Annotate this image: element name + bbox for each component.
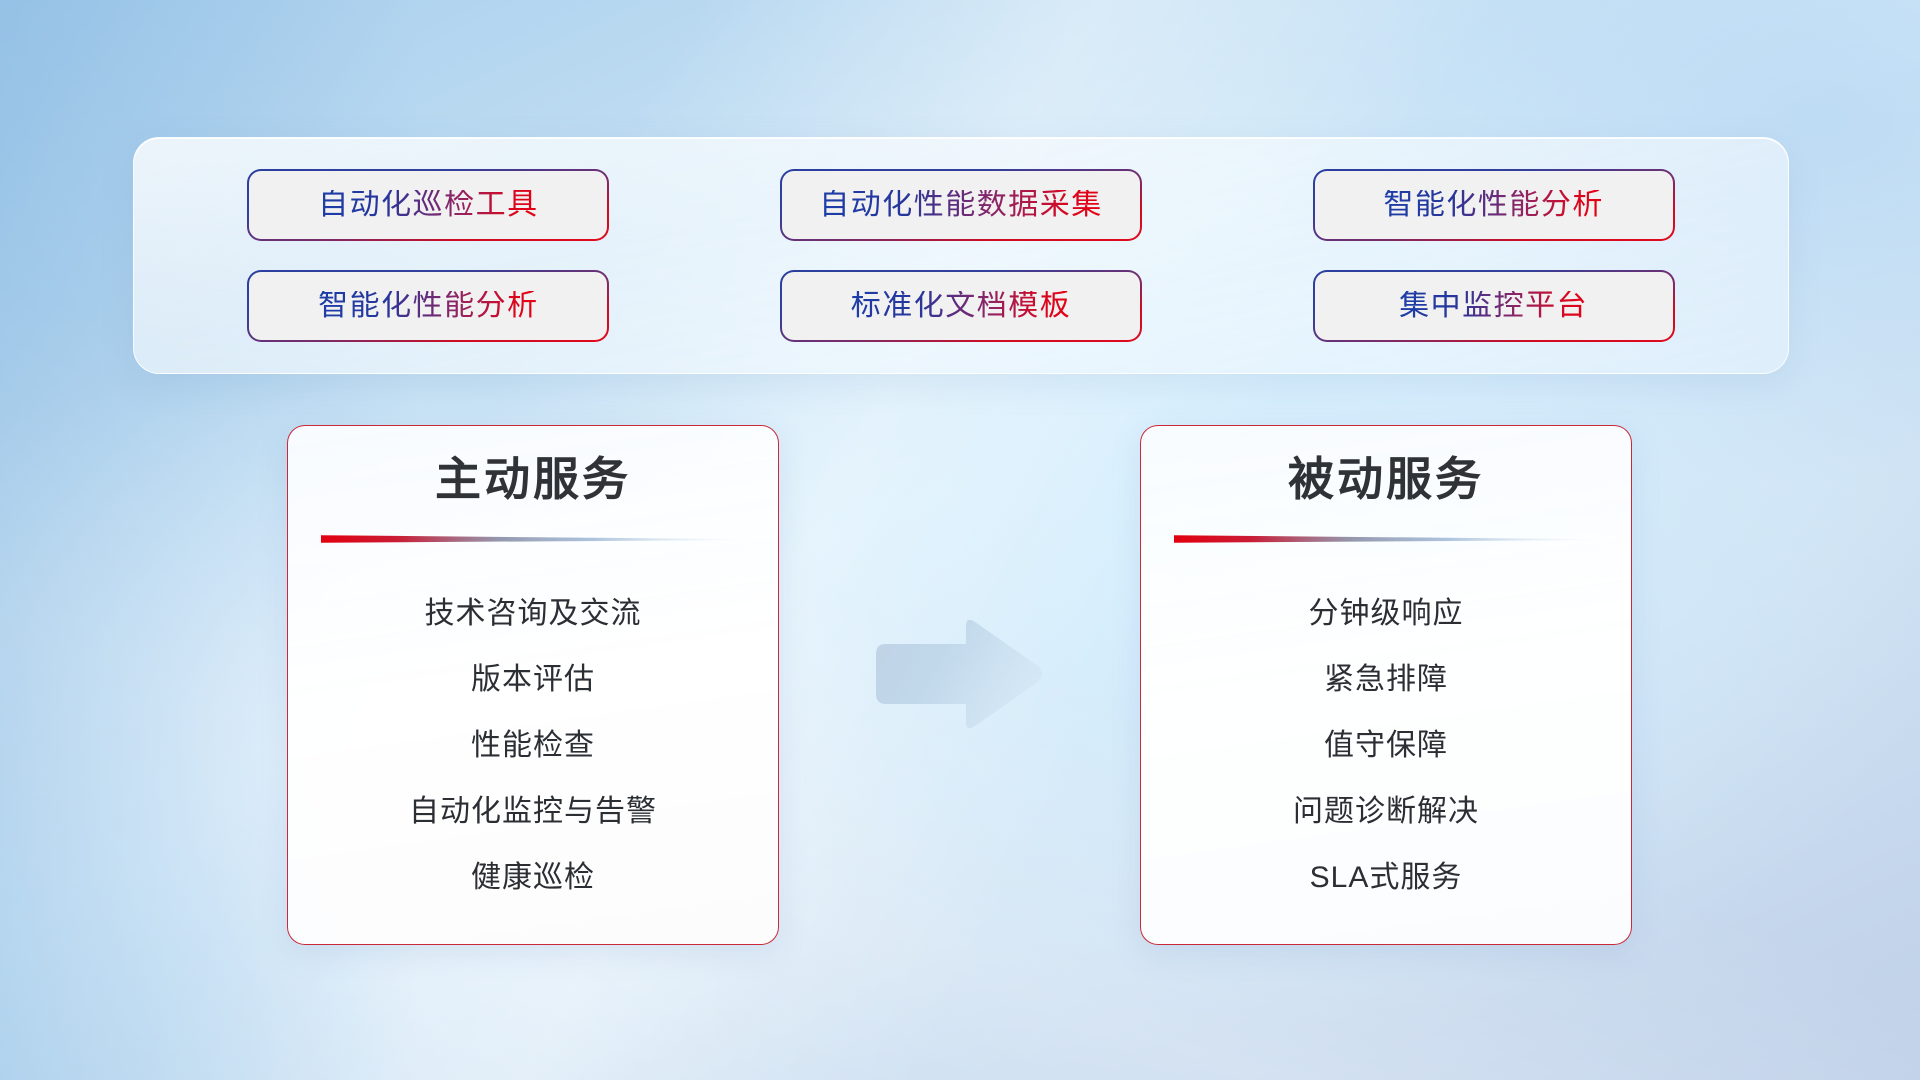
card-items-list: 分钟级响应 紧急排障 值守保障 问题诊断解决 SLA式服务 — [1141, 566, 1631, 926]
card-title: 被动服务 — [1141, 454, 1631, 505]
capability-pill-3[interactable]: 智能化性能分析 — [1315, 171, 1673, 239]
capability-pill-label: 标准化文档模板 — [851, 291, 1072, 321]
arrow-right-icon — [866, 612, 1046, 736]
card-items-list: 技术咨询及交流 版本评估 性能检查 自动化监控与告警 健康巡检 — [288, 566, 778, 926]
card-title: 主动服务 — [288, 454, 778, 505]
list-item: 值守保障 — [1324, 728, 1448, 764]
capability-pill-label: 自动化巡检工具 — [318, 190, 539, 220]
list-item: 性能检查 — [471, 728, 595, 764]
list-item: 健康巡检 — [471, 860, 595, 896]
card-divider-gradient — [1174, 534, 1598, 544]
capability-pill-label: 自动化性能数据采集 — [819, 190, 1103, 220]
capability-pill-4[interactable]: 智能化性能分析 — [249, 272, 607, 340]
capabilities-grid: 自动化巡检工具 自动化性能数据采集 智能化性能分析 智能化性能分析 标准化文档模… — [134, 138, 1788, 373]
slide-canvas: 自动化巡检工具 自动化性能数据采集 智能化性能分析 智能化性能分析 标准化文档模… — [0, 0, 1920, 1080]
capability-pill-6[interactable]: 集中监控平台 — [1315, 272, 1673, 340]
list-item: 分钟级响应 — [1309, 596, 1464, 632]
capability-pill-label: 集中监控平台 — [1399, 291, 1588, 321]
card-divider-gradient — [321, 534, 745, 544]
list-item: 自动化监控与告警 — [409, 794, 657, 830]
capability-pill-label: 智能化性能分析 — [1383, 190, 1604, 220]
list-item: 版本评估 — [471, 662, 595, 698]
capability-pill-1[interactable]: 自动化巡检工具 — [249, 171, 607, 239]
list-item: 技术咨询及交流 — [425, 596, 642, 632]
service-card-reactive[interactable]: 被动服务 分钟级响应 紧急排障 值守保障 — [1140, 425, 1632, 945]
service-card-proactive[interactable]: 主动服务 技术咨询及交流 版本评估 性能检查 — [287, 425, 779, 945]
list-item: 问题诊断解决 — [1293, 794, 1479, 830]
capability-pill-2[interactable]: 自动化性能数据采集 — [782, 171, 1140, 239]
capabilities-panel: 自动化巡检工具 自动化性能数据采集 智能化性能分析 智能化性能分析 标准化文档模… — [133, 137, 1789, 374]
capability-pill-5[interactable]: 标准化文档模板 — [782, 272, 1140, 340]
capability-pill-label: 智能化性能分析 — [318, 291, 539, 321]
list-item: SLA式服务 — [1310, 860, 1463, 896]
list-item: 紧急排障 — [1324, 662, 1448, 698]
